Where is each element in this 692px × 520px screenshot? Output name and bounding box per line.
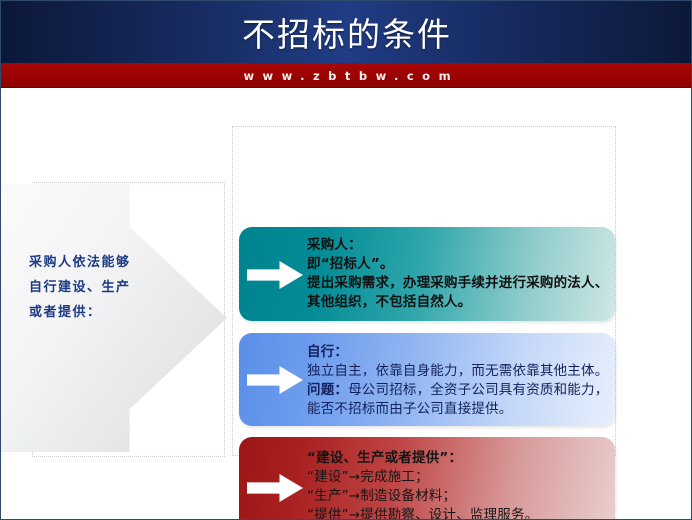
right-arrow-icon bbox=[247, 474, 303, 502]
left-arrow-line-3: 或者提供： bbox=[29, 300, 204, 325]
callout-box-self-performed-text: 自行： 独立自主，依靠自身能力，而无需依靠其他主体。 问题：母公司招标，全资子公… bbox=[307, 343, 611, 419]
slide-canvas: 不招标的条件 www.zbtbw.com 采购人依法能够 自行建设、生产 或者提… bbox=[0, 0, 692, 520]
box2-line-3: 问题：母公司招标，全资子公司具有资质和能力， bbox=[307, 381, 611, 400]
box2-line-3-label: 问题： bbox=[307, 382, 348, 398]
page-title: 不招标的条件 bbox=[1, 1, 692, 63]
callout-box-self-performed[interactable]: 自行： 独立自主，依靠自身能力，而无需依靠其他主体。 问题：母公司招标，全资子公… bbox=[239, 333, 615, 426]
box2-line-4: 能否不招标而由子公司直接提供。 bbox=[307, 400, 611, 419]
left-arrow-line-2: 自行建设、生产 bbox=[29, 275, 204, 300]
callout-box-procurer-text: 采购人： 即“招标人”。 提出采购需求，办理采购手续并进行采购的法人、 其他组织… bbox=[307, 236, 611, 312]
box1-line-1: 采购人： bbox=[307, 236, 611, 255]
box3-line-2: “建设”→完成施工； bbox=[307, 468, 611, 487]
left-arrow-label: 采购人依法能够 自行建设、生产 或者提供： bbox=[29, 250, 204, 325]
box3-line-1: “建设、生产或者提供”： bbox=[307, 449, 611, 468]
site-url-text: www.zbtbw.com bbox=[1, 63, 692, 88]
box3-line-4: “提供”→提供勘察、设计、监理服务。 bbox=[307, 506, 611, 520]
box2-line-3-rest: 母公司招标，全资子公司具有资质和能力， bbox=[348, 382, 608, 398]
right-arrow-icon bbox=[247, 261, 303, 289]
callout-box-build-produce-supply[interactable]: “建设、生产或者提供”： “建设”→完成施工； “生产”→制造设备材料； “提供… bbox=[239, 437, 615, 520]
right-arrow-icon bbox=[247, 366, 303, 394]
callout-box-procurer[interactable]: 采购人： 即“招标人”。 提出采购需求，办理采购手续并进行采购的法人、 其他组织… bbox=[239, 227, 615, 321]
callout-box-build-produce-supply-text: “建设、生产或者提供”： “建设”→完成施工； “生产”→制造设备材料； “提供… bbox=[307, 449, 611, 520]
box1-line-2: 即“招标人”。 bbox=[307, 255, 611, 274]
box2-line-2: 独立自主，依靠自身能力，而无需依靠其他主体。 bbox=[307, 362, 611, 381]
box3-line-3: “生产”→制造设备材料； bbox=[307, 487, 611, 506]
slide-body: 采购人依法能够 自行建设、生产 或者提供： 采购人： 即“招标人”。 提出采购需… bbox=[1, 90, 692, 520]
box1-line-4: 其他组织，不包括自然人。 bbox=[307, 293, 611, 312]
box2-line-1: 自行： bbox=[307, 343, 611, 362]
left-arrow-line-1: 采购人依法能够 bbox=[29, 250, 204, 275]
box1-line-3: 提出采购需求，办理采购手续并进行采购的法人、 bbox=[307, 274, 611, 293]
